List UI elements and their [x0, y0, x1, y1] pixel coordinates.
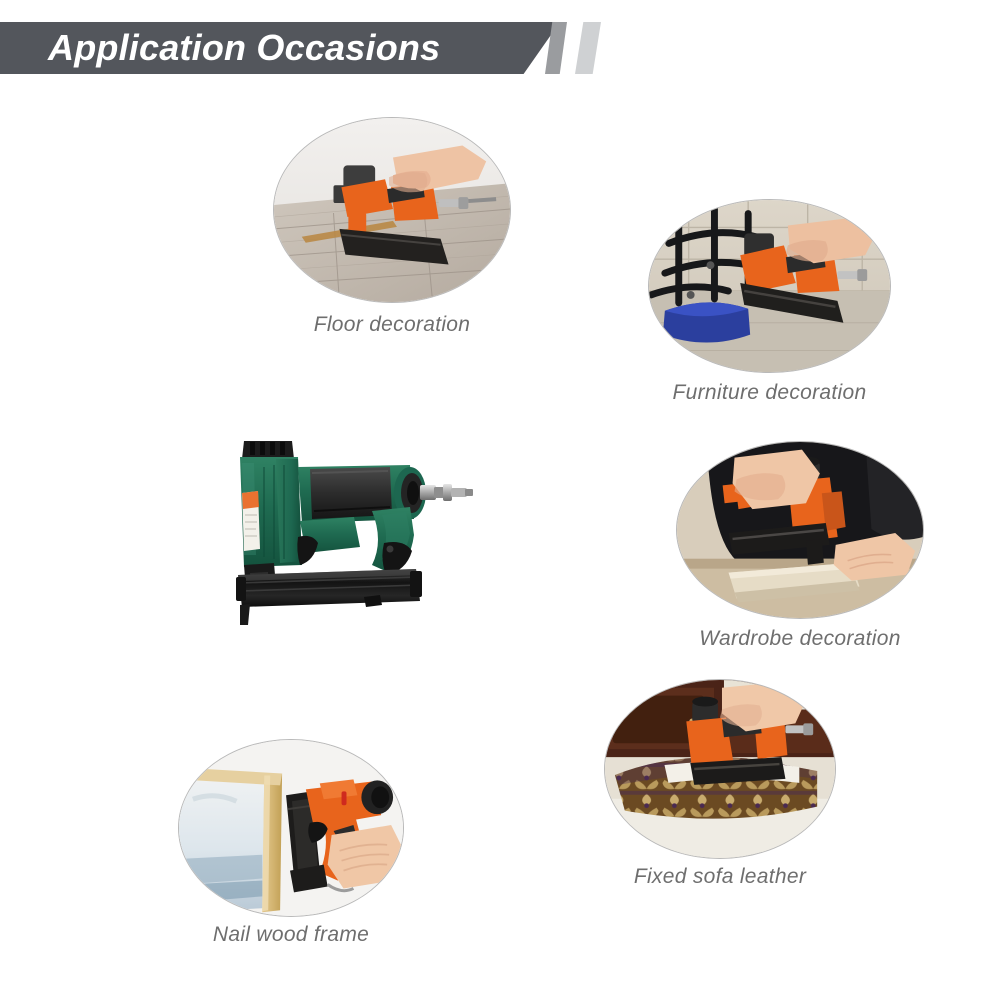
scene-fixed-sofa-leather: Fixed sofa leather — [604, 679, 836, 859]
scene-nail-wood-frame: Nail wood frame — [178, 739, 404, 917]
banner-accent-slash-light — [575, 22, 601, 74]
caption-wardrobe: Wardrobe decoration — [676, 627, 924, 651]
hero-product-image — [214, 415, 504, 630]
scene-wardrobe-decoration: Wardrobe decoration — [676, 441, 924, 619]
scene-floor-photo — [273, 117, 511, 303]
page-title: Application Occasions — [48, 27, 440, 69]
infographic-page: Application Occasions — [0, 0, 1000, 1000]
caption-furniture: Furniture decoration — [648, 381, 891, 405]
scene-frame-photo — [178, 739, 404, 917]
scene-furniture-photo — [648, 199, 891, 373]
scene-furniture-decoration: Furniture decoration — [648, 199, 891, 373]
scene-wardrobe-photo — [676, 441, 924, 619]
scene-sofa-photo — [604, 679, 836, 859]
caption-sofa: Fixed sofa leather — [604, 865, 836, 889]
header-banner: Application Occasions — [0, 22, 660, 74]
caption-frame: Nail wood frame — [178, 923, 404, 947]
scene-floor-decoration: Floor decoration — [273, 117, 511, 303]
caption-floor: Floor decoration — [273, 313, 511, 337]
